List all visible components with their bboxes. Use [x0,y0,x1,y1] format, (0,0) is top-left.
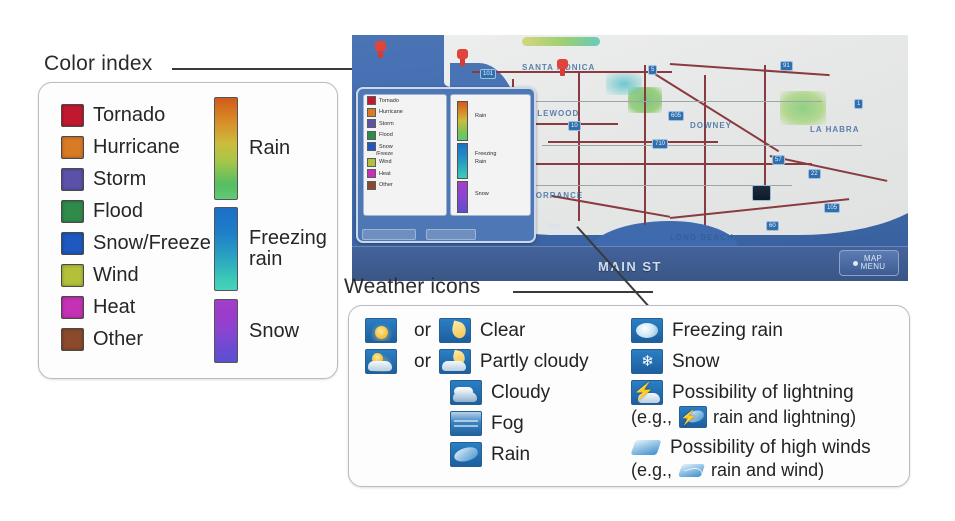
road-minor [492,101,822,102]
weather-icon-label: Cloudy [491,382,550,404]
route-shield: 105 [824,203,840,213]
road-segment [764,65,766,185]
wind-shape [631,440,661,455]
inset-rain-label: Rain [475,113,486,119]
fog-icon [450,411,482,436]
route-shield: 1 [854,99,863,109]
inset-label: Wind [379,159,392,165]
route-shield: 101 [480,69,496,79]
sun-disc [375,326,388,339]
moon-cloud-icon [439,349,471,374]
weather-overlay-green2 [780,91,826,125]
place-label: DOWNEY [690,121,732,130]
weather-icons-right-column: Freezing rain ❄ Snow ⚡ Possibility of li… [631,318,871,481]
color-index-row: Wind [61,259,211,291]
inset-row: Wind [364,157,446,169]
inset-rain-bar [457,101,468,141]
color-index-row: Other [61,323,211,355]
snowflake-glyph: ❄ [640,354,655,369]
cloud-shape [453,392,477,402]
route-shield: 605 [668,111,684,121]
cloud-icon [450,380,482,405]
weather-icon-row: ⚡ Possibility of lightning [631,380,871,405]
inset-snow-bar [457,181,468,213]
moon-crescent [450,321,467,340]
freezing-rain-icon [631,318,663,343]
inset-row: Other [364,180,446,192]
weather-marker-icon[interactable] [556,59,569,76]
inset-gradients-column: Rain Freezing Rain Snow [450,94,531,216]
wind-swatch [367,158,376,167]
place-label: LONG BEACH [670,233,734,242]
place-label: TORRANCE [530,191,583,200]
rain-gradient-bar [214,97,238,200]
weather-icon-row: Cloudy [365,380,589,405]
color-index-row: Storm [61,163,211,195]
fog-gradient [451,412,481,435]
color-index-label: Heat [93,297,135,317]
weather-icon-label: Fog [491,413,524,435]
road-minor [492,185,792,186]
weather-icon-label: Possibility of lightning [672,382,854,404]
freezing-rain-gradient-bar [214,207,238,291]
inset-label: Hurricane [379,109,403,115]
fog-line [454,425,478,427]
wind-swatch [61,264,84,287]
moon-icon [439,318,471,343]
lightning-icon: ⚡ [631,380,663,405]
snow-gradient-row: Snow [214,299,299,363]
weather-icons-caption: Weather icons [344,275,480,299]
weather-icon-label: Clear [480,320,525,342]
route-shield: 22 [808,169,821,179]
figure-root: Color index Tornado Hurricane Storm Floo… [0,0,955,521]
menu-dot-icon [853,261,858,266]
storm-swatch [367,119,376,128]
lightning-bolt-glyph: ⚡ [680,409,690,427]
color-index-caption: Color index [44,52,152,76]
road-minor [542,145,862,146]
weather-overlay-wind [522,37,600,46]
inset-label: Heat [379,171,391,177]
cloud-shape [368,361,392,371]
color-index-row: Heat [61,291,211,323]
inset-row: Flood [364,130,446,142]
color-index-label: Other [93,329,143,349]
snow-freeze-swatch [61,232,84,255]
weather-icons-panel: or Clear or Partly cloudy [348,305,910,487]
rain-wind-icon [679,461,705,481]
route-shield: 710 [652,139,668,149]
weather-icon-row: Fog [365,411,589,436]
inset-freezing-rain-bar [457,143,468,179]
road-segment [704,75,706,225]
color-index-row: Flood [61,195,211,227]
road-segment [548,141,718,143]
map-menu-line2: MENU [861,262,886,271]
hurricane-swatch [367,108,376,117]
lightning-bolt-glyph: ⚡ [633,383,643,401]
other-swatch [61,328,84,351]
map-menu-button[interactable]: MAP MENU [839,250,899,276]
other-swatch [367,181,376,190]
color-index-list: Tornado Hurricane Storm Flood Snow/Freez… [61,99,211,355]
note-suffix: rain and lightning) [713,407,856,428]
rain-gradient-row: Rain [214,97,290,200]
cloud-shape [442,361,466,371]
route-shield: 5 [648,65,657,75]
inset-freezing-rain-sublabel: Rain [475,159,486,165]
inset-items-column: Tornado Hurricane Storm Flood Snow [363,94,447,216]
inset-row: Heat [364,168,446,180]
map-menu-button-label: MAP MENU [861,255,886,272]
freezing-rain-burst [636,323,658,338]
note-prefix: (e.g., [631,460,672,481]
weather-icon-label: Rain [491,444,530,466]
route-shield: 57 [772,155,785,165]
navigation-map[interactable]: SANTA MONICA INGLEWOOD DOWNEY LA HABRA T… [352,35,908,281]
weather-icon-row: ❄ Snow [631,349,871,374]
inset-label: Tornado [379,98,399,104]
rain-streak [453,446,479,464]
weather-icon-label: Freezing rain [672,320,783,342]
weather-icons-leader-horizontal [513,291,653,293]
inset-row: Storm [364,118,446,130]
color-index-panel: Tornado Hurricane Storm Flood Snow/Freez… [38,82,338,379]
inset-label: Other [379,182,393,188]
route-shield: 91 [780,61,793,71]
weather-icons-left-column: or Clear or Partly cloudy [365,318,589,473]
weather-icon-label: Partly cloudy [480,351,589,373]
hurricane-swatch [61,136,84,159]
weather-icon-row: or Partly cloudy [365,349,589,374]
map-scale-bar [548,232,582,235]
weather-marker-icon[interactable] [374,41,387,58]
storm-swatch [61,168,84,191]
freezing-rain-gradient-row: Freezing rain [214,207,327,291]
route-shield: 60 [766,221,779,231]
color-index-row: Snow/Freeze [61,227,211,259]
color-index-label: Tornado [93,105,165,125]
weather-icon-label: Snow [672,351,720,373]
route-shield: 10 [568,121,581,131]
color-index-label: Storm [93,169,146,189]
weather-icon-row: Freezing rain [631,318,871,343]
inset-label: Flood [379,132,393,138]
inset-label: Snow [379,144,393,150]
weather-icon-row: Rain [365,442,589,467]
weather-overlay-teal [606,73,642,95]
icon-separator: or [414,320,431,342]
weather-icon-label: Possibility of high winds [670,437,871,459]
weather-marker-icon[interactable] [456,49,469,66]
inset-button-row [360,229,532,239]
marker-head [557,59,568,69]
color-index-label: Wind [93,265,139,285]
freezing-rain-label-line1: Freezing [249,227,327,249]
heat-swatch [61,296,84,319]
inset-freezing-rain-label: Freezing [475,151,496,157]
map-color-index-inset[interactable]: Tornado Hurricane Storm Flood Snow [356,87,536,243]
flood-swatch [367,131,376,140]
color-index-row: Tornado [61,99,211,131]
inset-row: Hurricane [364,107,446,119]
note-suffix: rain and wind) [711,460,824,481]
rain-lightning-icon: ⚡ [679,406,707,428]
inset-row: Tornado [364,95,446,107]
inset-label: Storm [379,121,394,127]
color-index-label: Flood [93,201,143,221]
marker-head [457,49,468,59]
tornado-swatch [61,104,84,127]
color-index-label: Snow/Freeze [93,233,211,253]
icon-separator: or [414,351,431,373]
rain-gradient-label: Rain [249,138,290,159]
rain-icon [450,442,482,467]
inset-snow-label: Snow [475,191,489,197]
inset-ok-button[interactable] [426,229,476,240]
lightning-example-note: (e.g., ⚡ rain and lightning) [631,406,871,428]
marker-head [375,41,386,51]
note-prefix: (e.g., [631,407,672,428]
weather-marker-icon[interactable] [752,185,771,201]
fog-line [454,420,478,422]
heat-swatch [367,169,376,178]
inset-back-button[interactable] [362,229,416,240]
snow-freeze-swatch [367,142,376,151]
color-index-row: Hurricane [61,131,211,163]
wind-example-note: (e.g., rain and wind) [631,460,871,481]
tornado-swatch [367,96,376,105]
sun-cloud-icon [365,349,397,374]
snow-gradient-label: Snow [249,321,299,342]
freezing-rain-label-line2: rain [249,248,282,270]
freezing-rain-gradient-label: Freezing rain [249,228,327,270]
sun-icon [365,318,397,343]
flood-swatch [61,200,84,223]
map-scale-label: 5mi [548,223,559,230]
snow-icon: ❄ [631,349,663,374]
weather-icon-row: Possibility of high winds [631,436,871,459]
current-street-label: MAIN ST [352,259,908,274]
color-index-label: Hurricane [93,137,180,157]
weather-icon-row: or Clear [365,318,589,343]
snow-gradient-bar [214,299,238,363]
high-wind-icon [631,436,661,459]
place-label: LA HABRA [810,125,859,134]
